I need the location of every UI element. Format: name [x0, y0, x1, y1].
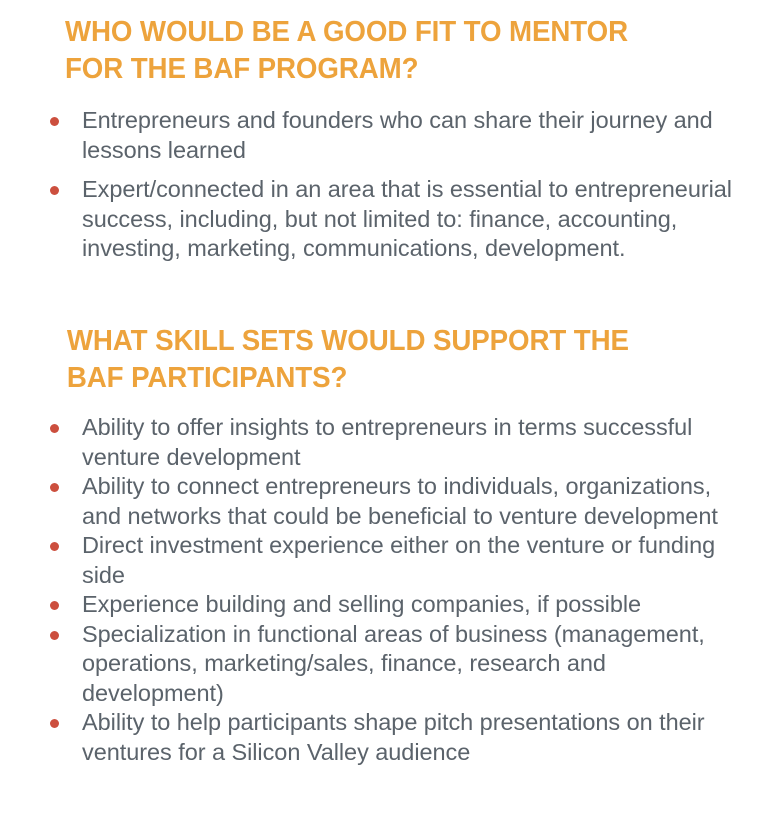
list-item-text: Ability to help participants shape pitch…	[82, 708, 739, 767]
slide-canvas: WHO WOULD BE A GOOD FIT TO MENTOR FOR TH…	[0, 0, 783, 823]
bullet-dot-icon	[50, 483, 59, 492]
bullet-dot-icon	[50, 631, 59, 640]
bullet-dot-icon	[50, 117, 59, 126]
bullet-list-skill-sets: Ability to offer insights to entrepreneu…	[0, 413, 783, 767]
section-heading-mentor-fit: WHO WOULD BE A GOOD FIT TO MENTOR FOR TH…	[0, 0, 669, 88]
bullet-dot-icon	[50, 542, 59, 551]
list-item-text: Entrepreneurs and founders who can share…	[82, 106, 743, 165]
list-item-text: Ability to connect entrepreneurs to indi…	[82, 472, 739, 531]
bullet-list-mentor-fit: Entrepreneurs and founders who can share…	[0, 106, 783, 264]
list-item: Ability to connect entrepreneurs to indi…	[0, 472, 783, 531]
list-item: Direct investment experience either on t…	[0, 531, 783, 590]
list-item-text: Ability to offer insights to entrepreneu…	[82, 413, 739, 472]
list-item-text: Direct investment experience either on t…	[82, 531, 739, 590]
list-item: Experience building and selling companie…	[0, 590, 783, 620]
bullet-dot-icon	[50, 424, 59, 433]
list-item: Ability to help participants shape pitch…	[0, 708, 783, 767]
section-heading-skill-sets: WHAT SKILL SETS WOULD SUPPORT THE BAF PA…	[0, 316, 669, 397]
bullet-dot-icon	[50, 719, 59, 728]
list-item-text: Specialization in functional areas of bu…	[82, 620, 739, 709]
bullet-dot-icon	[50, 186, 59, 195]
list-item: Ability to offer insights to entrepreneu…	[0, 413, 783, 472]
list-item-text: Experience building and selling companie…	[82, 590, 739, 620]
list-item: Specialization in functional areas of bu…	[0, 620, 783, 709]
list-item-text: Expert/connected in an area that is esse…	[82, 175, 743, 264]
list-item: Entrepreneurs and founders who can share…	[0, 106, 783, 165]
section-skill-sets: WHAT SKILL SETS WOULD SUPPORT THE BAF PA…	[0, 316, 783, 767]
section-mentor-fit: WHO WOULD BE A GOOD FIT TO MENTOR FOR TH…	[0, 0, 783, 264]
list-item: Expert/connected in an area that is esse…	[0, 175, 783, 264]
bullet-dot-icon	[50, 601, 59, 610]
